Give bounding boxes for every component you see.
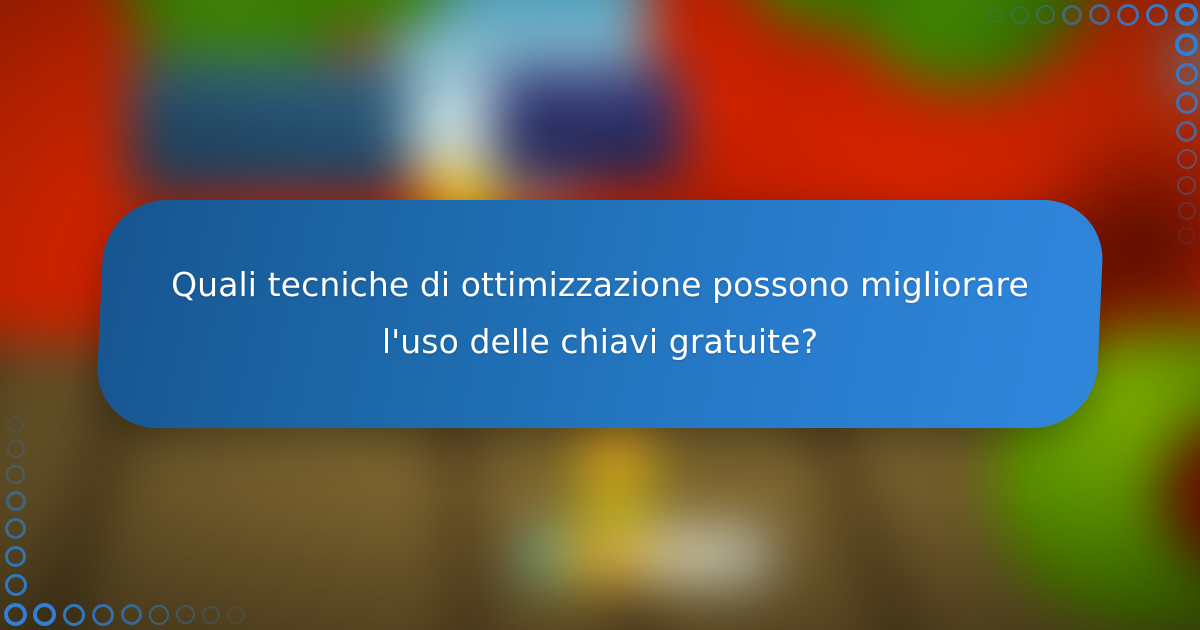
question-text: Quali tecniche di ottimizzazione possono…	[160, 257, 1040, 371]
decorative-ring	[1178, 202, 1196, 220]
decorative-ring	[202, 606, 220, 624]
decorative-ring	[63, 604, 85, 626]
decorative-ring	[92, 604, 114, 626]
decorative-ring	[176, 605, 195, 624]
screenshot-canvas: Quali tecniche di ottimizzazione possono…	[0, 0, 1200, 630]
decorative-ring	[1175, 33, 1198, 56]
decorative-ring	[988, 7, 1004, 23]
decorative-ring	[1178, 227, 1195, 244]
decorative-ring	[1176, 63, 1198, 85]
decorative-ring	[1177, 176, 1196, 195]
decorative-ring	[5, 574, 27, 596]
decorative-ring	[6, 465, 25, 484]
ring-cluster-bottom	[33, 603, 245, 626]
ring-cluster-left	[4, 416, 27, 626]
ring-cluster-top-right	[988, 3, 1198, 26]
decorative-ring	[1176, 121, 1197, 142]
decorative-ring	[7, 440, 25, 458]
decorative-ring	[1177, 149, 1197, 169]
question-card: Quali tecniche di ottimizzazione possono…	[95, 200, 1105, 428]
decorative-ring	[1176, 92, 1198, 114]
decorative-ring	[6, 491, 26, 511]
decorative-ring	[33, 603, 56, 626]
decorative-ring	[1036, 5, 1055, 24]
decorative-ring	[5, 546, 26, 567]
decorative-ring	[1011, 6, 1029, 24]
decorative-ring	[149, 605, 169, 625]
decorative-ring	[1117, 4, 1139, 26]
decorative-ring	[1175, 3, 1198, 26]
decorative-ring	[1089, 4, 1110, 25]
decorative-ring	[1146, 4, 1168, 26]
decorative-ring	[1062, 5, 1082, 25]
decorative-ring	[121, 604, 142, 625]
ring-cluster-right	[1175, 33, 1198, 244]
decorative-ring	[227, 606, 245, 624]
decorative-ring	[7, 416, 24, 433]
decorative-ring	[4, 603, 27, 626]
decorative-ring	[5, 518, 26, 539]
